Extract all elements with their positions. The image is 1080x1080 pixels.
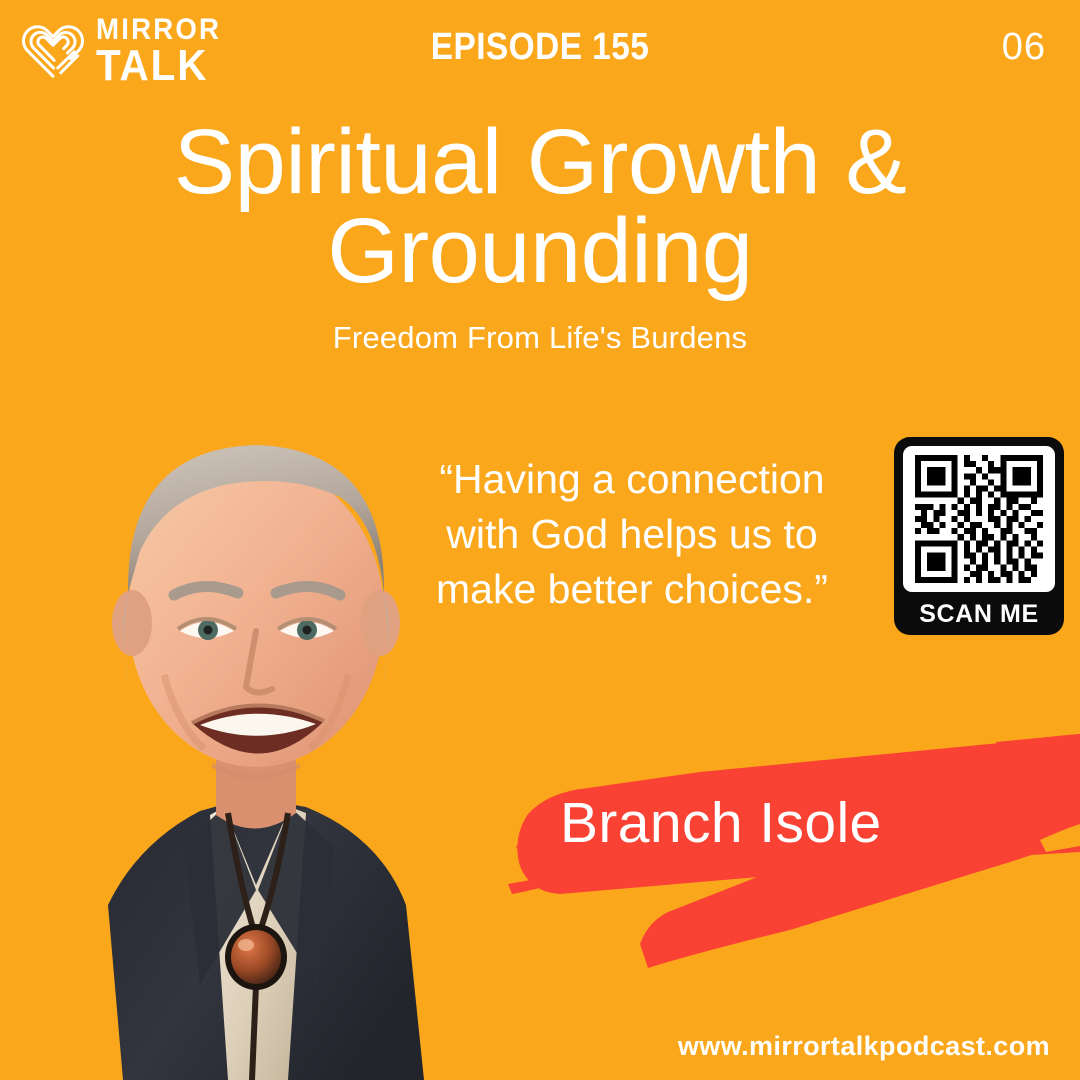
website-url[interactable]: www.mirrortalkpodcast.com	[678, 1031, 1050, 1062]
episode-number-badge: 06	[1002, 26, 1046, 69]
guest-name: Branch Isole	[560, 790, 1020, 856]
scan-me-label: SCAN ME	[919, 600, 1038, 629]
title-block: Spiritual Growth & Grounding Freedom Fro…	[0, 118, 1080, 356]
qr-code-card[interactable]: SCAN ME	[894, 437, 1064, 635]
episode-label: EPISODE 155	[65, 26, 1015, 69]
qr-code-image[interactable]	[903, 446, 1055, 592]
episode-title: Spiritual Growth & Grounding	[0, 118, 1080, 296]
qr-code-icon	[915, 455, 1043, 583]
episode-subtitle: Freedom From Life's Burdens	[0, 320, 1080, 356]
episode-quote: “Having a connection with God helps us t…	[406, 452, 858, 617]
header-bar: MIRROR TALK EPISODE 155 06	[0, 0, 1080, 108]
podcast-episode-cover: MIRROR TALK EPISODE 155 06 Spiritual Gro…	[0, 0, 1080, 1080]
